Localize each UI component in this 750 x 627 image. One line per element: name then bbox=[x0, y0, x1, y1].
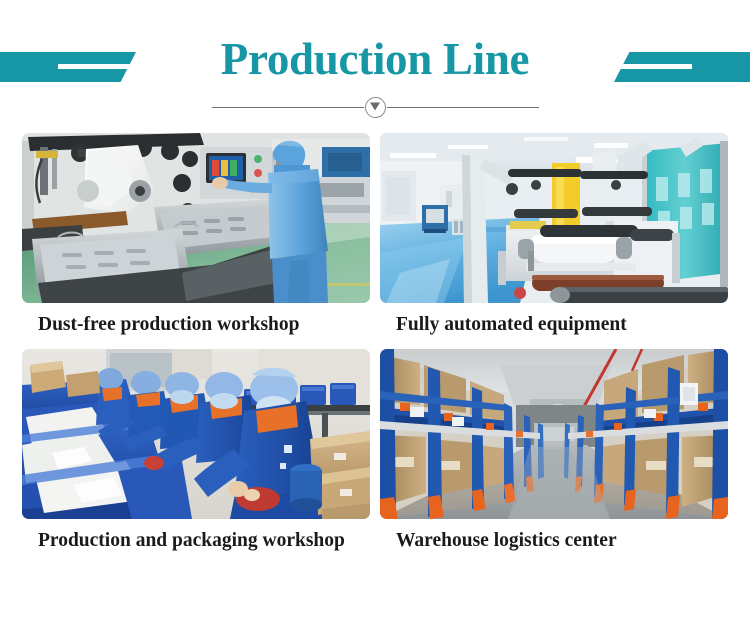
photo-cleanroom-packaging-machine[interactable] bbox=[22, 133, 370, 303]
divider-rule-right bbox=[387, 107, 539, 108]
gallery-row: Production and packaging workshop bbox=[22, 349, 728, 553]
photo-caption: Dust-free production workshop bbox=[22, 303, 370, 337]
chevron-down-icon bbox=[365, 97, 386, 118]
gallery-cell[interactable]: Production and packaging workshop bbox=[22, 349, 370, 553]
page-header: Production Line bbox=[0, 0, 750, 133]
gallery-cell[interactable]: Dust-free production workshop bbox=[22, 133, 370, 337]
divider-rule-left bbox=[212, 107, 364, 108]
photo-caption: Fully automated equipment bbox=[380, 303, 728, 337]
gallery-cell[interactable]: Warehouse logistics center bbox=[380, 349, 728, 553]
photo-automated-laminating-line[interactable] bbox=[380, 133, 728, 303]
photo-caption: Warehouse logistics center bbox=[380, 519, 728, 553]
title-divider bbox=[0, 95, 750, 119]
photo-caption: Production and packaging workshop bbox=[22, 519, 370, 553]
photo-gallery: Dust-free production workshop bbox=[22, 133, 728, 554]
photo-packaging-assembly-line[interactable] bbox=[22, 349, 370, 519]
gallery-cell[interactable]: Fully automated equipment bbox=[380, 133, 728, 337]
header-decoration-right bbox=[614, 52, 750, 82]
gallery-row: Dust-free production workshop bbox=[22, 133, 728, 337]
photo-warehouse-racking-aisle[interactable] bbox=[380, 349, 728, 519]
